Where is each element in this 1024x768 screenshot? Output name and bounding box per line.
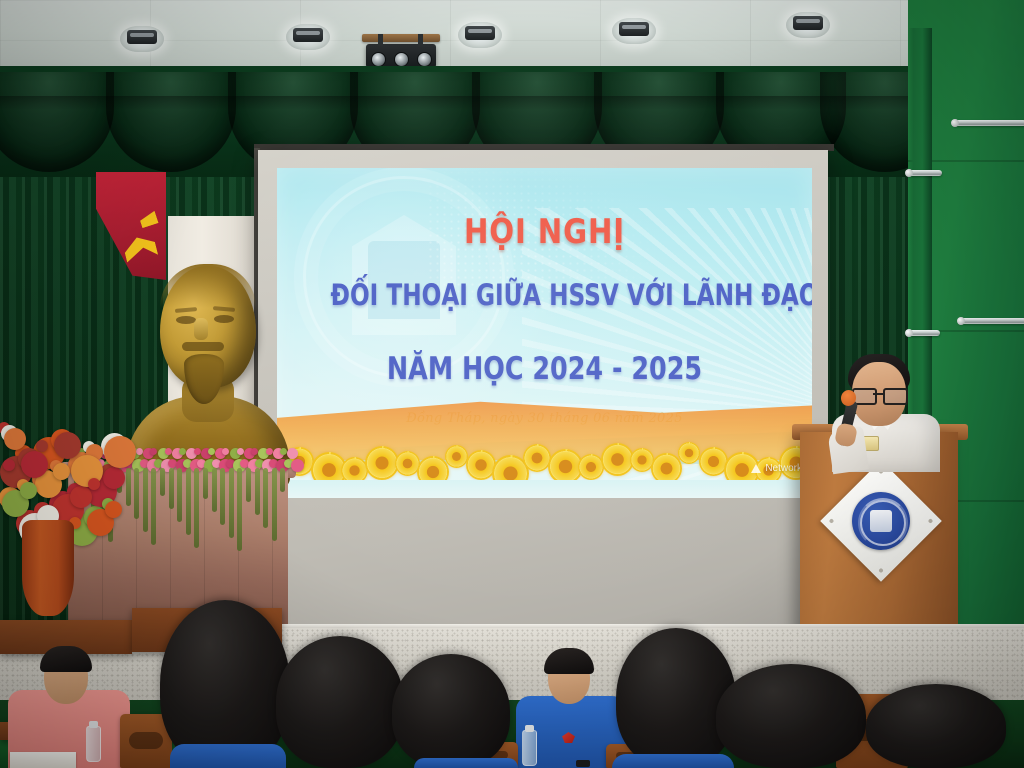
bouquet-flower: [53, 463, 70, 480]
podium-speaker: [828, 348, 948, 458]
slide-subtitle-line2: NĂM HỌC 2024 - 2025: [325, 351, 764, 387]
hanging-vine: [263, 468, 268, 528]
bouquet-flower: [21, 451, 48, 478]
hanging-vine: [169, 468, 174, 509]
photo-canvas: HỘI NGHỊ ĐỐI THOẠI GIỮA HSSV VỚI LÃNH ĐẠ…: [0, 0, 1024, 768]
flower-blossom: [179, 448, 186, 455]
hanging-vine: [160, 468, 165, 496]
ceiling-light-icon: [612, 18, 656, 44]
bouquet-flower: [36, 440, 48, 452]
hanging-vine: [280, 468, 285, 492]
flower-blossom: [291, 459, 304, 472]
wristwatch: [576, 760, 590, 767]
wall-rail: [952, 120, 1024, 126]
hanging-vine: [220, 468, 225, 525]
glasses-icon: [852, 388, 906, 401]
bouquet-flower: [54, 432, 81, 459]
flower-blossom: [136, 448, 143, 455]
audience-shirt: [414, 758, 518, 768]
flower-blossom: [165, 448, 172, 455]
network-watermark: Network: [751, 463, 802, 474]
audience-head: [866, 684, 1006, 768]
audience-head: [276, 636, 404, 768]
water-bottle: [522, 730, 537, 766]
flower-blossom: [251, 448, 258, 455]
network-watermark-label: Network: [765, 463, 802, 474]
wall-rail: [906, 170, 942, 176]
bust-eye: [214, 315, 234, 323]
bouquet-flower: [105, 501, 122, 518]
school-emblem-icon: [852, 492, 910, 550]
sunflower-icon: [578, 454, 604, 480]
sunflower-icon: [678, 442, 700, 464]
ceiling-light-icon: [120, 26, 164, 52]
hanging-vine: [203, 468, 208, 499]
ceiling-light-icon: [786, 12, 830, 38]
flower-vase: [22, 520, 74, 616]
slide-title: HỘI NGHỊ: [314, 212, 774, 252]
flower-blossom: [237, 448, 244, 455]
warning-triangle-icon: [751, 464, 761, 473]
hanging-vine: [186, 468, 191, 535]
projected-slide: HỘI NGHỊ ĐỐI THOẠI GIỮA HSSV VỚI LÃNH ĐẠ…: [277, 168, 812, 498]
water-bottle: [86, 726, 101, 762]
audience-head: [392, 654, 510, 768]
slide-sunflower-border: [277, 428, 812, 482]
bust-hair: [160, 264, 256, 308]
sunflower-icon: [630, 448, 654, 472]
hanging-vine: [134, 468, 139, 519]
flower-blossom: [266, 448, 273, 455]
wall-rail: [906, 330, 940, 336]
bouquet-flower: [3, 459, 15, 471]
flower-blossom: [194, 448, 201, 455]
audience-head: [616, 628, 736, 768]
audience-head: [160, 600, 290, 768]
hanging-vine: [143, 468, 148, 532]
hanging-vine: [194, 468, 199, 548]
bouquet-flower: [88, 478, 100, 490]
slide-bottom-band: [277, 480, 812, 498]
document-stack: [10, 752, 76, 768]
hanging-vine: [272, 468, 277, 541]
hanging-vine: [177, 468, 182, 522]
bust-nose: [194, 318, 208, 340]
sunflower-icon: [395, 451, 420, 476]
slide-subtitle-line1: ĐỐI THOẠI GIỮA HSSV VỚI LÃNH ĐẠO TRƯỜNG: [331, 278, 759, 312]
bust-eye: [176, 316, 196, 324]
audience-shirt: [170, 744, 286, 768]
bouquet-flower: [103, 467, 125, 489]
wall-rail: [958, 318, 1024, 324]
audience-shirt: [612, 754, 734, 768]
hanging-vine: [246, 468, 251, 502]
bouquet-flower: [4, 428, 26, 450]
bouquet-flower: [104, 436, 136, 468]
flower-blossom: [222, 448, 229, 455]
bouquet-flower: [70, 486, 92, 508]
ceiling-light-icon: [286, 24, 330, 50]
hanging-vine: [237, 468, 242, 551]
bouquet-flower: [20, 482, 37, 499]
flower-blossom: [208, 448, 215, 455]
hanging-vine: [212, 468, 217, 512]
hanging-vine: [229, 468, 234, 538]
bust-mustache: [182, 342, 224, 351]
flower-blossom: [150, 448, 157, 455]
valance-shadow: [0, 96, 930, 110]
hanging-vine: [255, 468, 260, 515]
audience-head: [716, 664, 866, 768]
sunflower-icon: [445, 445, 468, 468]
hanging-vine: [151, 468, 156, 545]
stage-light-bar: [366, 44, 436, 68]
ceiling-light-icon: [458, 22, 502, 48]
flower-blossom: [280, 448, 287, 455]
